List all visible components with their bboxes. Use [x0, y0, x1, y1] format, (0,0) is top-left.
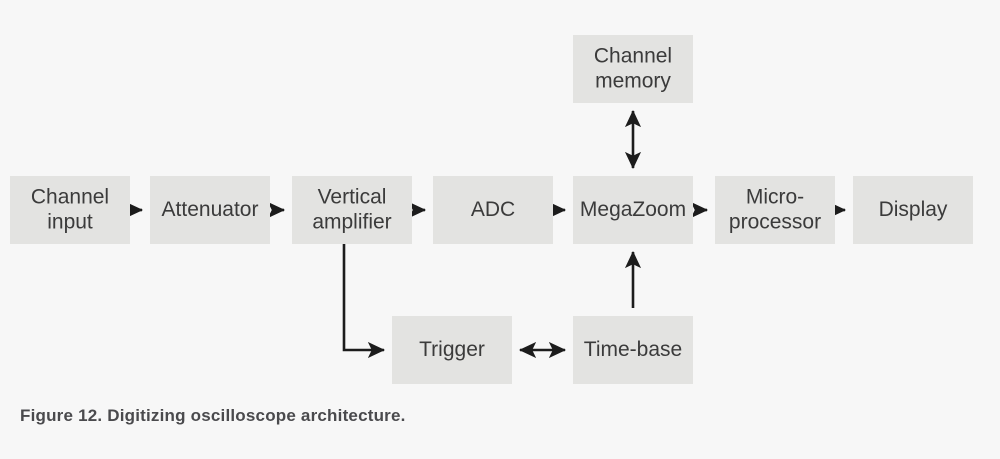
- node-label-trigger: Trigger: [419, 338, 485, 361]
- node-trigger[interactable]: Trigger: [392, 316, 512, 384]
- node-label-display: Display: [879, 198, 948, 221]
- node-attenuator[interactable]: Attenuator: [150, 176, 270, 244]
- node-label-adc: ADC: [471, 198, 515, 221]
- node-megazoom[interactable]: MegaZoom: [573, 176, 693, 244]
- node-channel-memory[interactable]: Channelmemory: [573, 35, 693, 103]
- node-label-time-base: Time-base: [584, 338, 682, 361]
- node-channel-input[interactable]: Channelinput: [10, 176, 130, 244]
- node-display[interactable]: Display: [853, 176, 973, 244]
- block-diagram: ChannelinputAttenuatorVerticalamplifierA…: [0, 0, 1000, 459]
- node-label-megazoom: MegaZoom: [580, 198, 686, 221]
- diagram-nodes: ChannelinputAttenuatorVerticalamplifierA…: [10, 35, 973, 384]
- node-adc[interactable]: ADC: [433, 176, 553, 244]
- node-label-attenuator: Attenuator: [162, 198, 259, 221]
- node-time-base[interactable]: Time-base: [573, 316, 693, 384]
- figure-container: ChannelinputAttenuatorVerticalamplifierA…: [0, 0, 1000, 459]
- node-microprocessor[interactable]: Micro-processor: [715, 176, 835, 244]
- node-vertical-amplifier[interactable]: Verticalamplifier: [292, 176, 412, 244]
- edge-vertical-amplifier-trigger: [344, 244, 384, 350]
- figure-caption: Figure 12. Digitizing oscilloscope archi…: [20, 406, 406, 426]
